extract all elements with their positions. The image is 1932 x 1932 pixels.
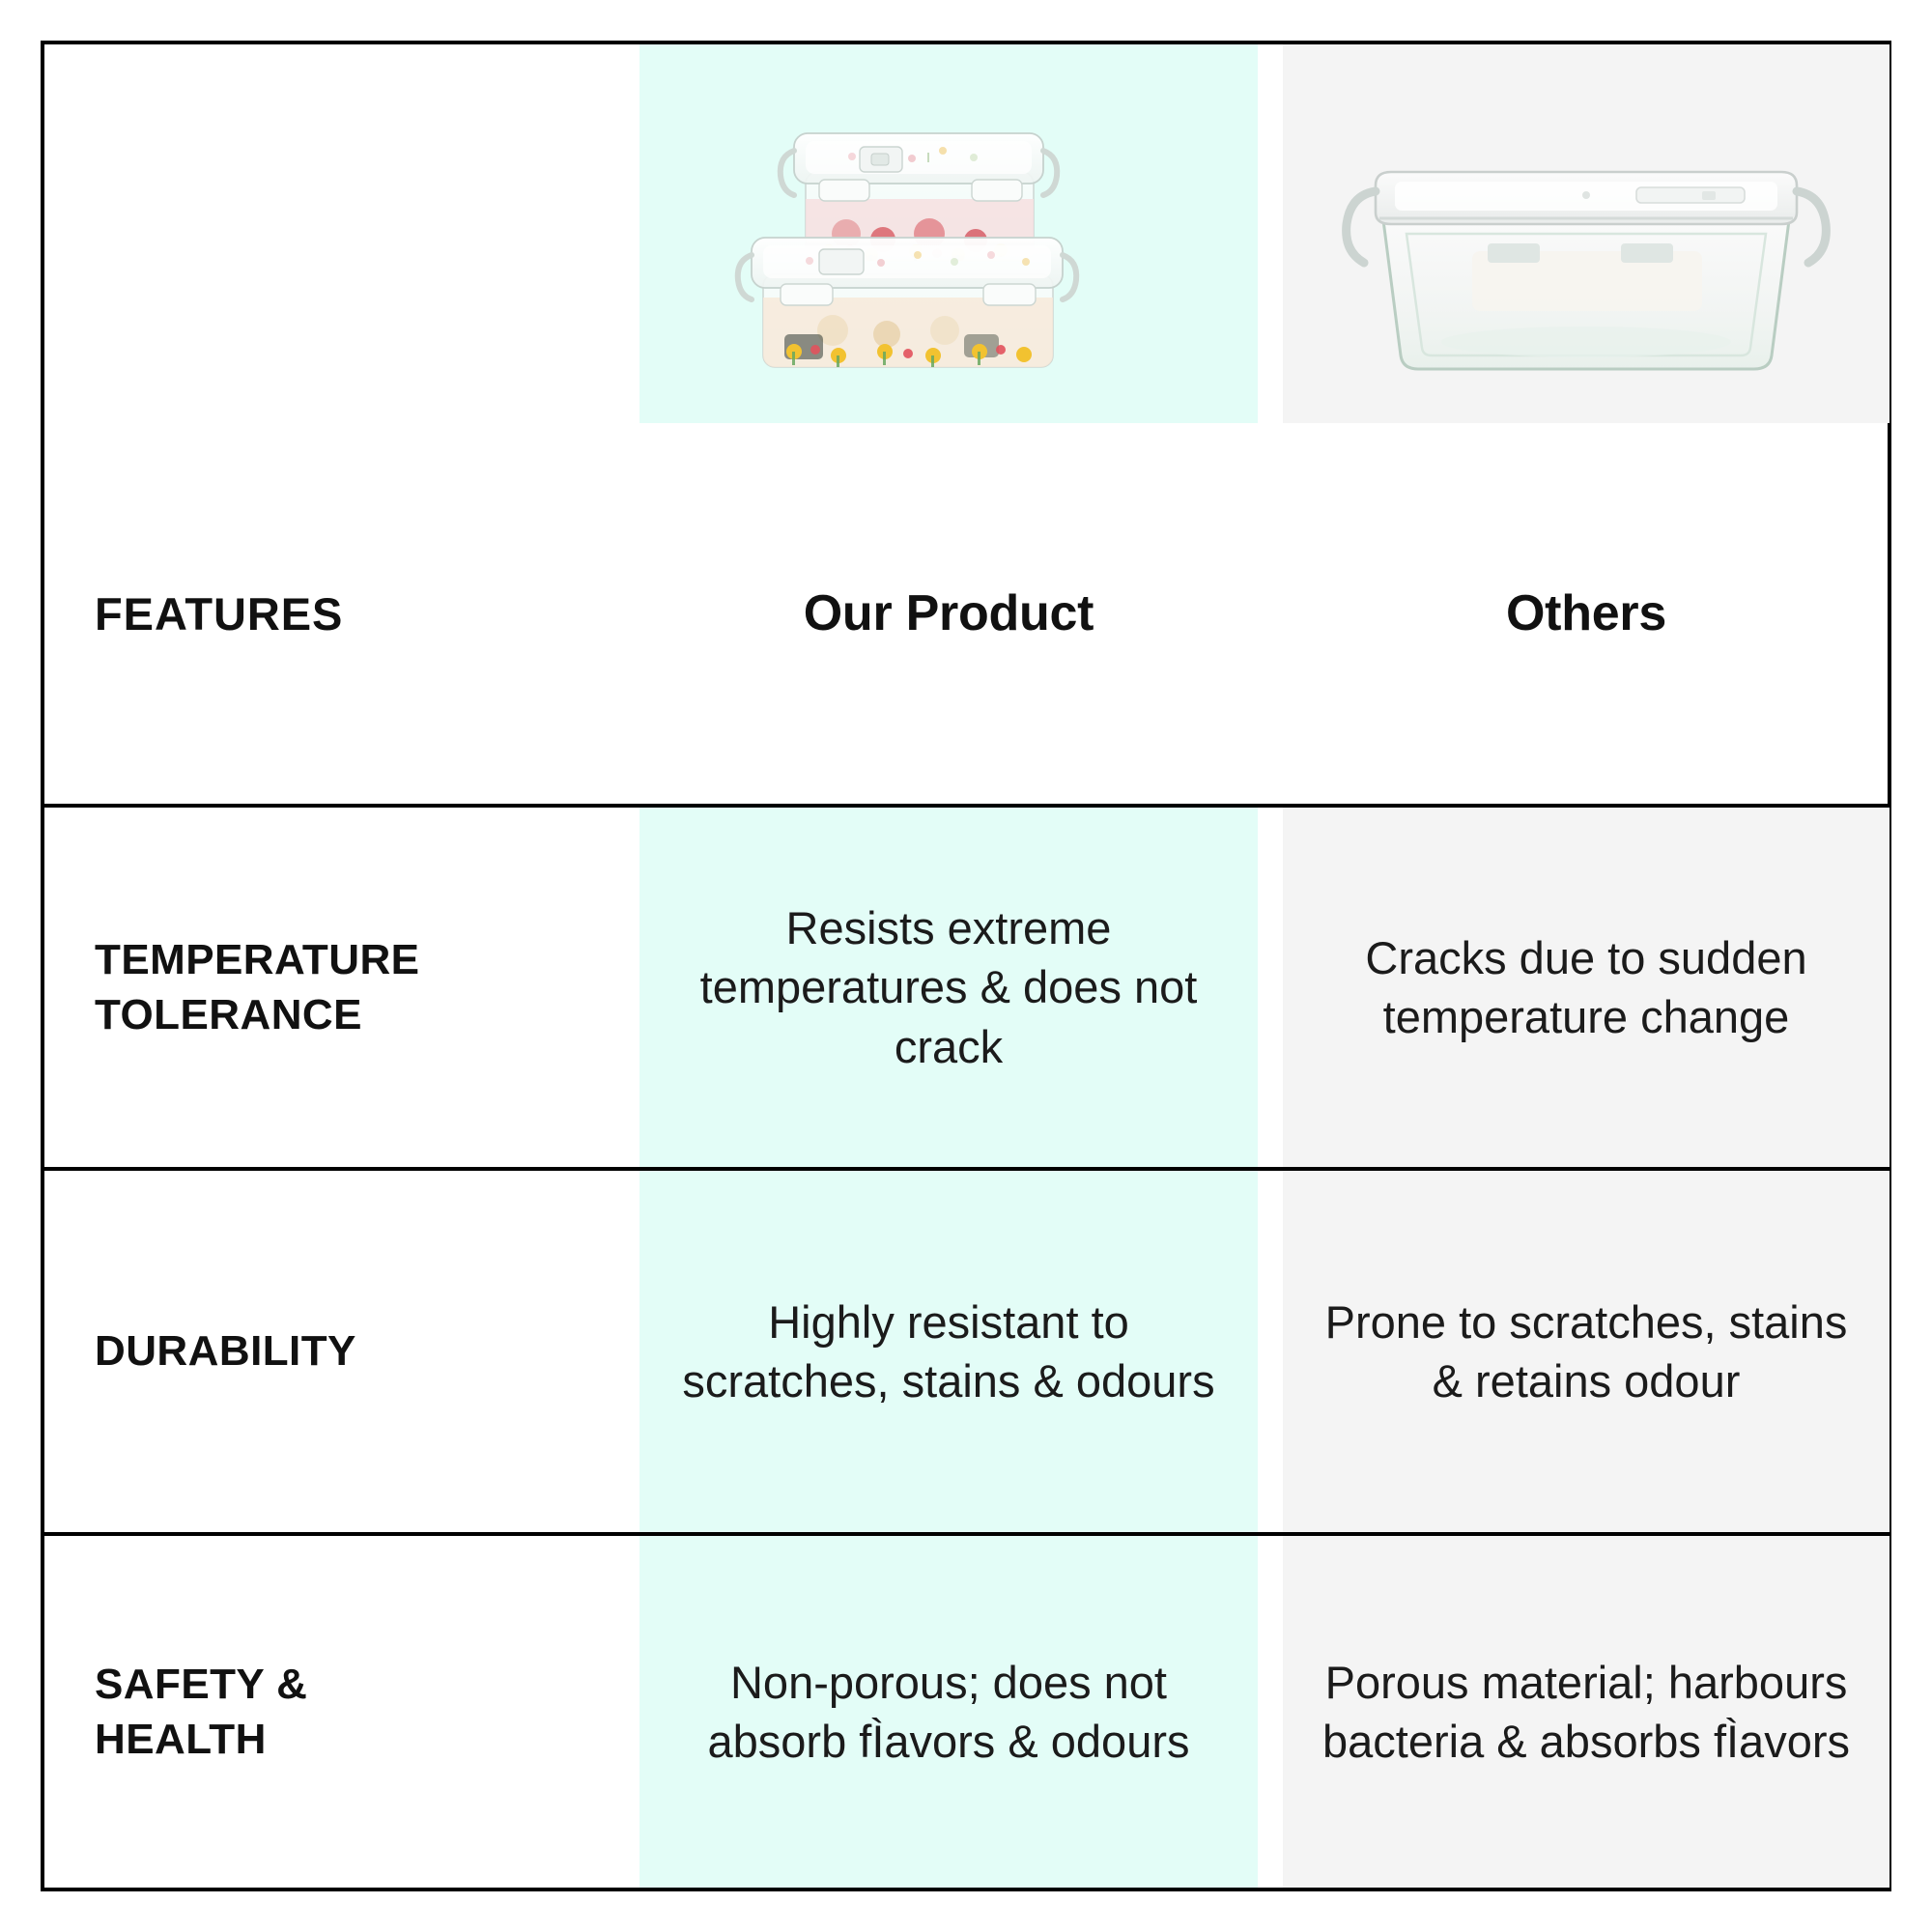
row-others-cell: Porous material; harbours bacteria & abs… [1283,1536,1889,1888]
others-value: Porous material; harbours bacteria & abs… [1304,1653,1868,1771]
column-header-others: Others [1283,423,1889,804]
others-value: Cracks due to sudden temperature change [1304,928,1868,1046]
feature-label-line2: TOLERANCE [95,987,419,1042]
comparison-table-page: FEATURES Our Product Others TEMPERATURE … [0,0,1932,1932]
others-value: Prone to scratches, stains & retains odo… [1304,1293,1868,1410]
row-our-product-cell: Resists extreme temperatures & does not … [639,808,1258,1167]
others-product-image-cell [1283,44,1889,423]
feature-label: TEMPERATURE TOLERANCE [95,932,419,1042]
our-product-value: Highly resistant to scratches, stains & … [665,1293,1233,1410]
feature-label: DURABILITY [95,1323,356,1378]
row-feature-cell: SAFETY & HEALTH [44,1536,639,1888]
row-others-cell: Cracks due to sudden temperature change [1283,808,1889,1167]
row-our-product-cell: Highly resistant to scratches, stains & … [639,1171,1258,1532]
feature-label: SAFETY & HEALTH [95,1657,307,1767]
column-header-our-product: Our Product [639,423,1258,804]
feature-label-line1: TEMPERATURE [95,932,419,987]
column-labels-strip: FEATURES Our Product Others [44,423,1888,804]
table-header-row: FEATURES Our Product Others [44,44,1888,804]
row-feature-cell: TEMPERATURE TOLERANCE [44,808,639,1167]
table-row: TEMPERATURE TOLERANCE Resists extreme te… [44,808,1888,1167]
row-others-cell: Prone to scratches, stains & retains odo… [1283,1171,1889,1532]
comparison-table: FEATURES Our Product Others TEMPERATURE … [41,41,1891,1891]
row-feature-cell: DURABILITY [44,1171,639,1532]
column-header-features-label: FEATURES [95,587,343,640]
column-header-features: FEATURES [44,423,639,804]
our-product-value: Resists extreme temperatures & does not … [665,898,1233,1075]
table-row: DURABILITY Highly resistant to scratches… [44,1171,1888,1532]
feature-label-line2: HEALTH [95,1712,307,1767]
column-header-others-label: Others [1506,584,1666,642]
floral-glass-containers-icon [639,44,1258,423]
feature-label-line1: SAFETY & [95,1657,307,1712]
plain-glass-container-icon [1283,44,1889,423]
our-product-image-cell [639,44,1258,423]
column-header-our-product-label: Our Product [804,584,1094,642]
feature-label-line1: DURABILITY [95,1323,356,1378]
row-our-product-cell: Non-porous; does not absorb fÌavors & od… [639,1536,1258,1888]
table-row: SAFETY & HEALTH Non-porous; does not abs… [44,1536,1888,1888]
our-product-value: Non-porous; does not absorb fÌavors & od… [665,1653,1233,1771]
